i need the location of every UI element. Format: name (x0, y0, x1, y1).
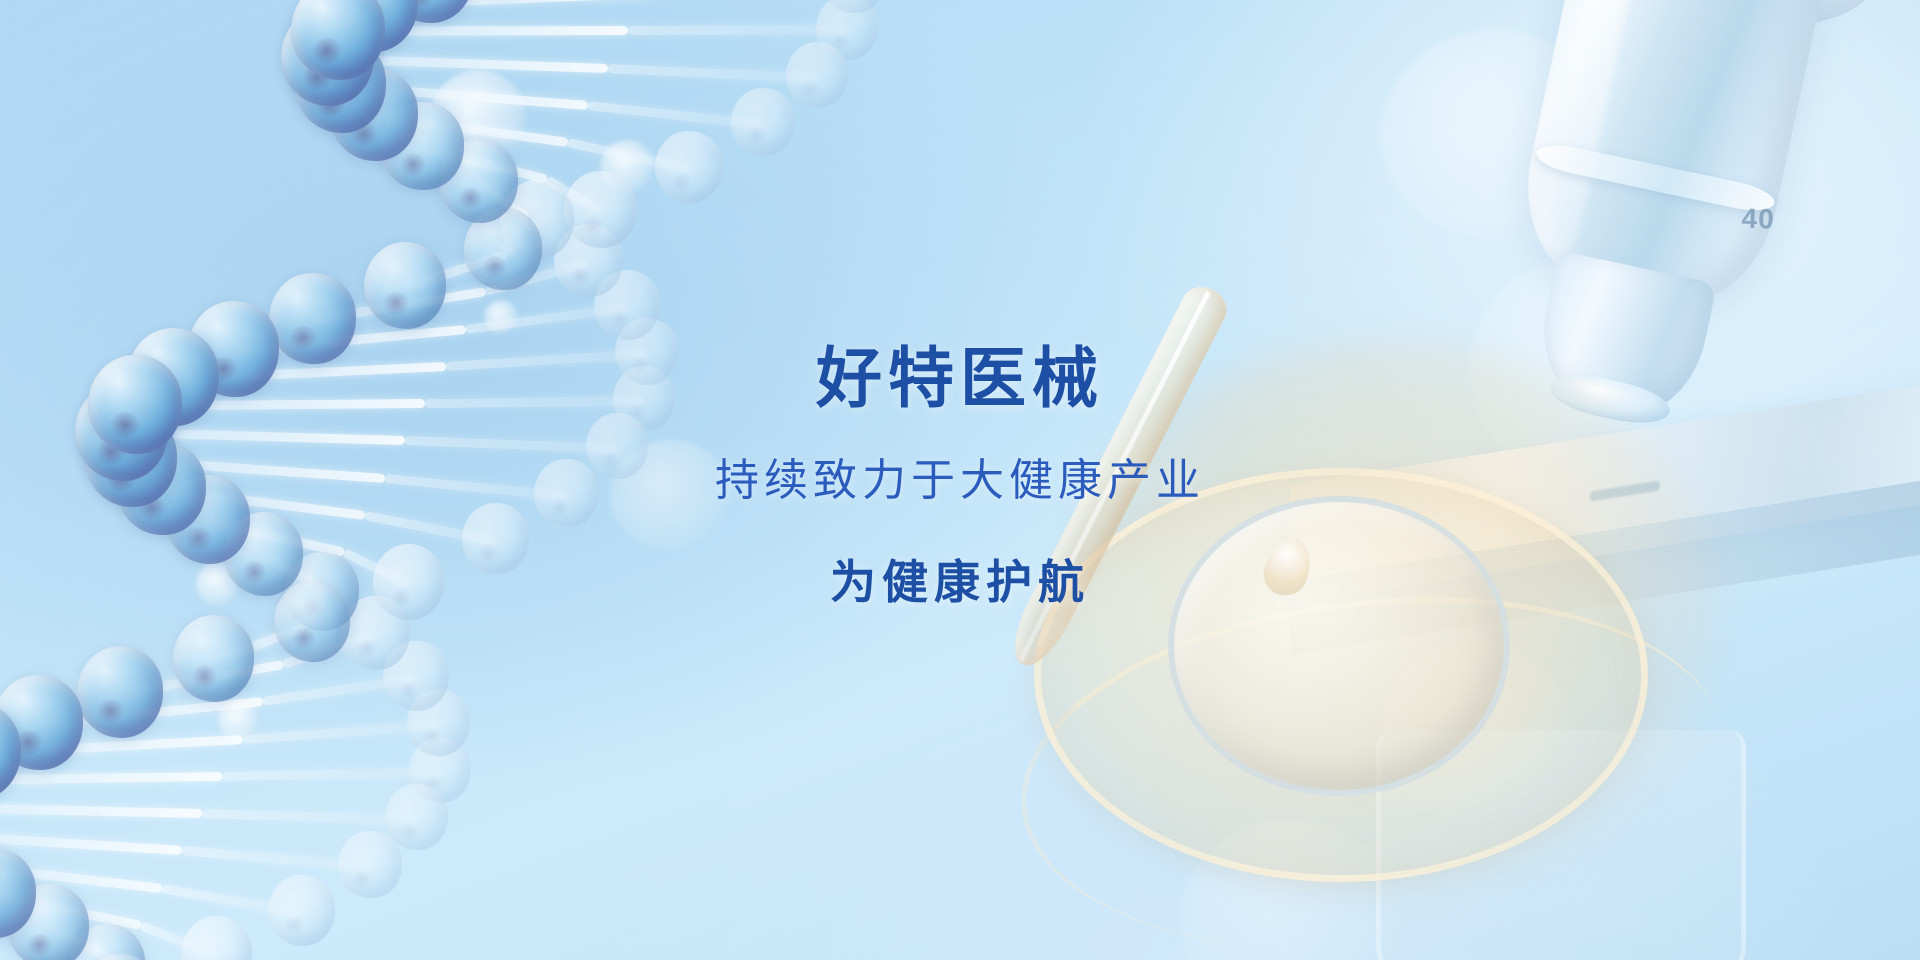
dna-nucleotide-bead (373, 544, 445, 620)
dna-nucleotide-bead (731, 88, 796, 157)
dna-nucleotide-bead (274, 581, 350, 662)
banner-subtitle: 持续致力于大健康产业 (715, 459, 1205, 503)
dna-nucleotide-bead (173, 615, 254, 701)
dna-nucleotide-bead (586, 413, 648, 479)
dna-nucleotide-bead (655, 131, 723, 203)
dna-nucleotide-bead (77, 646, 163, 737)
dna-nucleotide-bead (338, 831, 402, 899)
dna-nucleotide-bead (462, 503, 530, 575)
dna-nucleotide-bead (534, 459, 598, 527)
hero-banner: 40 好特医械 持续致力于大健康产业 为健康护航 (0, 0, 1920, 960)
dna-nucleotide-bead (364, 242, 446, 329)
dna-nucleotide-bead (786, 42, 849, 108)
dna-nucleotide-bead (269, 273, 356, 365)
dna-nucleotide-bead (385, 784, 447, 850)
banner-tagline: 为健康护航 (830, 559, 1090, 605)
banner-copy: 好特医械 持续致力于大健康产业 为健康护航 (0, 0, 1920, 960)
dna-nucleotide-bead (564, 171, 636, 248)
dna-nucleotide-bead (268, 875, 335, 946)
dna-nucleotide-bead (88, 355, 182, 455)
banner-title: 好特医械 (816, 345, 1104, 411)
